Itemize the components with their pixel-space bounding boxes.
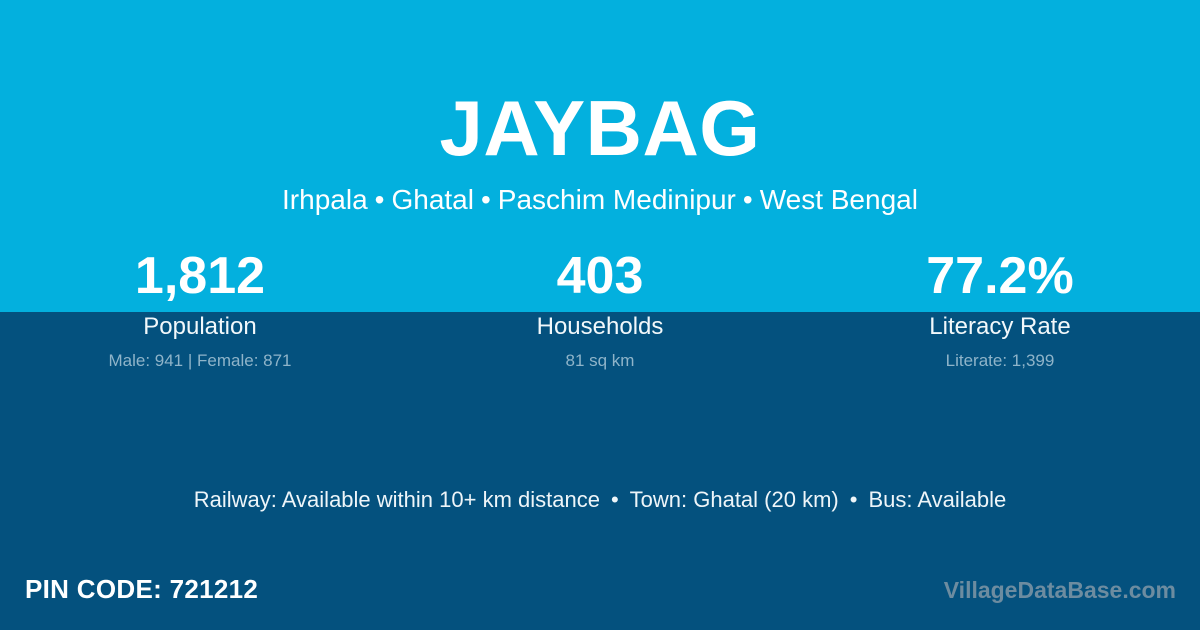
breadcrumb-item-state[interactable]: West Bengal: [760, 184, 918, 215]
breadcrumb-separator-icon: •: [474, 184, 498, 215]
transit-item-town: Town: Ghatal (20 km): [630, 487, 839, 512]
stat-sub-literacy-rate: Literate: 1,399: [800, 350, 1200, 372]
page-title: JAYBAG: [0, 84, 1200, 172]
transit-separator-icon: •: [600, 487, 630, 512]
card-footer: PIN CODE: 721212 VillageDataBase.com: [0, 572, 1200, 612]
statistics-row: 1,812 Population Male: 941 | Female: 871…: [0, 245, 1200, 372]
transit-item-railway: Railway: Available within 10+ km distanc…: [194, 487, 600, 512]
stat-label-literacy-rate: Literacy Rate: [800, 312, 1200, 342]
stat-value-population: 1,812: [0, 245, 400, 307]
breadcrumb-separator-icon: •: [368, 184, 392, 215]
breadcrumb: Irhpala•Ghatal•Paschim Medinipur•West Be…: [0, 182, 1200, 218]
village-info-card: JAYBAG Irhpala•Ghatal•Paschim Medinipur•…: [0, 0, 1200, 630]
breadcrumb-separator-icon: •: [736, 184, 760, 215]
pin-code-label: PIN CODE: 721212: [25, 572, 258, 606]
stat-label-population: Population: [0, 312, 400, 342]
stat-sub-population: Male: 941 | Female: 871: [0, 350, 400, 372]
breadcrumb-item-district[interactable]: Paschim Medinipur: [498, 184, 736, 215]
stat-households: 403 Households 81 sq km: [400, 245, 800, 372]
stat-population: 1,812 Population Male: 941 | Female: 871: [0, 245, 400, 372]
stat-value-households: 403: [400, 245, 800, 307]
transit-item-bus: Bus: Available: [868, 487, 1006, 512]
stat-literacy-rate: 77.2% Literacy Rate Literate: 1,399: [800, 245, 1200, 372]
transit-separator-icon: •: [839, 487, 869, 512]
stat-sub-households: 81 sq km: [400, 350, 800, 372]
stat-value-literacy-rate: 77.2%: [800, 245, 1200, 307]
breadcrumb-item-block[interactable]: Ghatal: [391, 184, 474, 215]
transit-info-bar: Railway: Available within 10+ km distanc…: [0, 485, 1200, 515]
site-brand-watermark: VillageDataBase.com: [944, 575, 1176, 605]
breadcrumb-item-village[interactable]: Irhpala: [282, 184, 368, 215]
stat-label-households: Households: [400, 312, 800, 342]
